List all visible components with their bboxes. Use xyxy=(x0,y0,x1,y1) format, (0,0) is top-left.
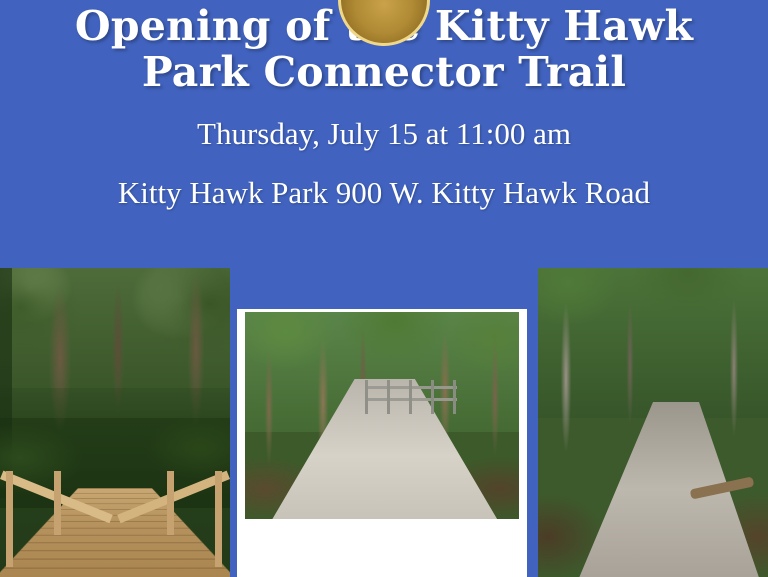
gravel-path-fence xyxy=(365,380,457,414)
event-datetime: Thursday, July 15 at 11:00 am xyxy=(0,96,768,149)
boardwalk-post-2 xyxy=(54,471,61,535)
boardwalk-post-1 xyxy=(6,471,13,567)
event-location: Kitty Hawk Park 900 W. Kitty Hawk Road xyxy=(0,149,768,208)
boardwalk-photo xyxy=(0,268,230,577)
event-poster: Opening of the Kitty Hawk Park Connector… xyxy=(0,0,768,577)
headline-line-2: Park Connector Trail xyxy=(0,50,768,96)
photo-band xyxy=(0,268,768,577)
forest-trail-photo xyxy=(538,268,768,577)
boardwalk-post-4 xyxy=(167,471,174,535)
center-bottom-strip xyxy=(237,268,527,309)
poster-text-block: Opening of the Kitty Hawk Park Connector… xyxy=(0,0,768,268)
gravel-path-photo xyxy=(245,312,519,519)
boardwalk-post-3 xyxy=(215,471,222,567)
